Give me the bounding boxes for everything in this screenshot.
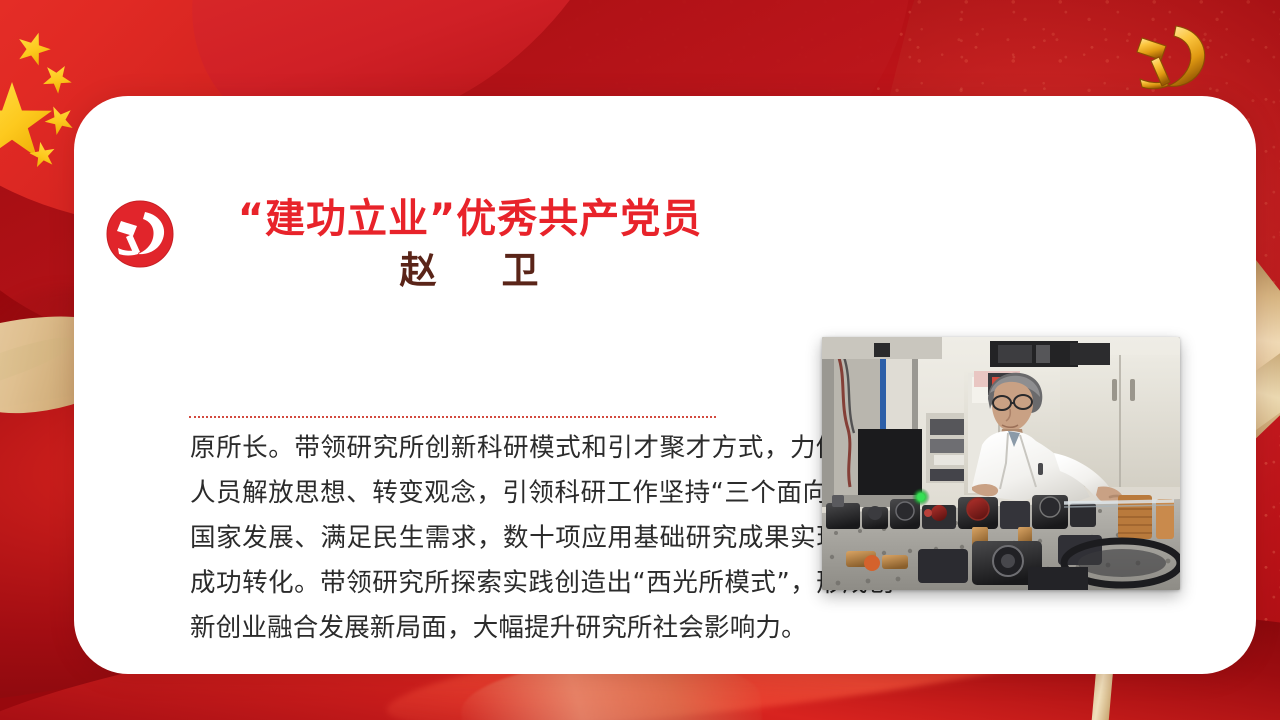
slide-root: “建功立业”优秀共产党员 赵 卫 原所长。带领研究所创新科研模式和引才聚才方式，… xyxy=(0,0,1280,720)
body-paragraph: 原所长。带领研究所创新科研模式和引才聚才方式，力促科技人员解放思想、转变观念，引… xyxy=(190,426,894,651)
party-emblem-hammer-sickle-icon xyxy=(104,198,176,270)
scientist-photo xyxy=(822,337,1180,590)
person-name: 赵 卫 xyxy=(186,250,754,291)
page-title: “建功立业”优秀共产党员 xyxy=(186,196,754,242)
card-header: “建功立业”优秀共产党员 赵 卫 xyxy=(104,196,754,291)
title-block: “建功立业”优秀共产党员 赵 卫 xyxy=(186,196,754,291)
content-card: “建功立业”优秀共产党员 赵 卫 原所长。带领研究所创新科研模式和引才聚才方式，… xyxy=(74,96,1256,674)
dotted-divider xyxy=(189,416,716,418)
